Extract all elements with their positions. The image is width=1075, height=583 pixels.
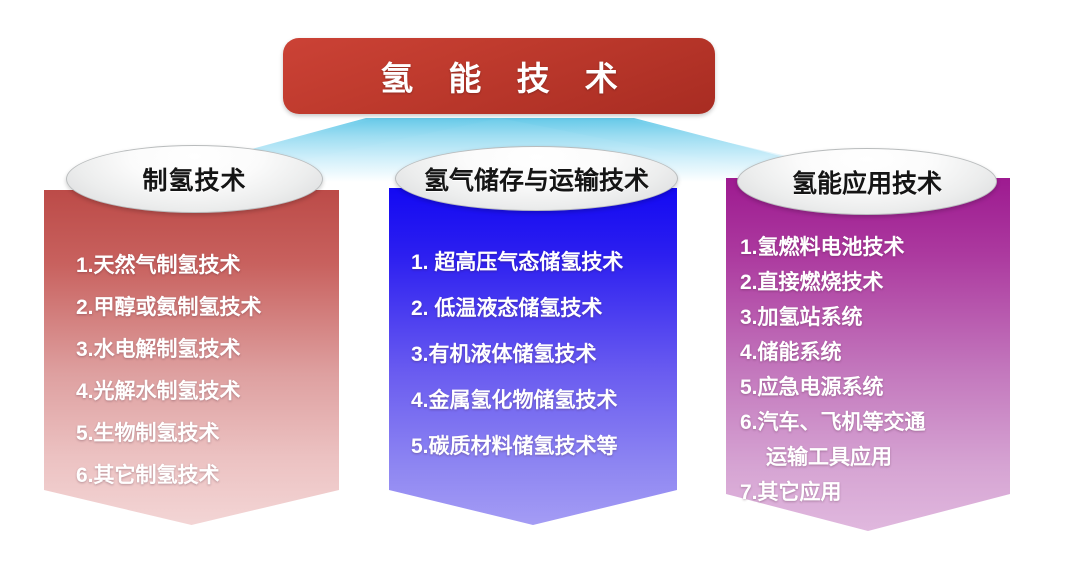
list-item: 5.生物制氢技术 [76, 413, 339, 455]
list-item: 7.其它应用 [740, 475, 1010, 510]
list-item: 5.应急电源系统 [740, 370, 1010, 405]
column-content-red: 1.天然气制氢技术 2.甲醇或氨制氢技术 3.水电解制氢技术 4.光解水制氢技术… [44, 190, 339, 497]
list-item: 4.储能系统 [740, 335, 1010, 370]
list-item: 4.光解水制氢技术 [76, 371, 339, 413]
heading-ellipse-hydrogen-application: 氢能应用技术 [737, 148, 997, 215]
list-item: 6.其它制氢技术 [76, 455, 339, 497]
list-item: 1. 超高压气态储氢技术 [411, 240, 677, 286]
list-item: 1.天然气制氢技术 [76, 245, 339, 287]
heading-label-hydrogen-application: 氢能应用技术 [792, 164, 942, 200]
list-item: 5.碳质材料储氢技术等 [411, 424, 677, 470]
list-item: 2.直接燃烧技术 [740, 265, 1010, 300]
column-content-purple: 1.氢燃料电池技术 2.直接燃烧技术 3.加氢站系统 4.储能系统 5.应急电源… [726, 178, 1010, 510]
category-column-hydrogen-storage-transport: 1. 超高压气态储氢技术 2. 低温液态储氢技术 3.有机液体储氢技术 4.金属… [389, 188, 677, 525]
list-item-continuation: 运输工具应用 [740, 440, 1010, 475]
heading-ellipse-hydrogen-production: 制氢技术 [66, 145, 323, 213]
list-item: 3.加氢站系统 [740, 300, 1010, 335]
list-item: 1.氢燃料电池技术 [740, 230, 1010, 265]
list-item: 3.水电解制氢技术 [76, 329, 339, 371]
diagram-canvas: 氢 能 技 术 1.天然气制氢技术 2.甲醇或氨制氢技术 3.水电解制氢技术 4… [0, 0, 1075, 583]
list-item: 3.有机液体储氢技术 [411, 332, 677, 378]
list-hydrogen-application: 1.氢燃料电池技术 2.直接燃烧技术 3.加氢站系统 4.储能系统 5.应急电源… [726, 178, 1010, 510]
list-item: 2. 低温液态储氢技术 [411, 286, 677, 332]
category-column-hydrogen-application: 1.氢燃料电池技术 2.直接燃烧技术 3.加氢站系统 4.储能系统 5.应急电源… [726, 178, 1010, 531]
category-column-hydrogen-production: 1.天然气制氢技术 2.甲醇或氨制氢技术 3.水电解制氢技术 4.光解水制氢技术… [44, 190, 339, 525]
root-title-box: 氢 能 技 术 [283, 38, 715, 114]
heading-ellipse-hydrogen-storage-transport: 氢气储存与运输技术 [395, 146, 678, 211]
list-item: 2.甲醇或氨制氢技术 [76, 287, 339, 329]
list-hydrogen-production: 1.天然气制氢技术 2.甲醇或氨制氢技术 3.水电解制氢技术 4.光解水制氢技术… [44, 190, 339, 497]
list-item: 4.金属氢化物储氢技术 [411, 378, 677, 424]
page-title: 氢 能 技 术 [367, 52, 631, 100]
heading-label-hydrogen-production: 制氢技术 [142, 161, 246, 197]
heading-label-hydrogen-storage-transport: 氢气储存与运输技术 [424, 161, 649, 197]
column-content-blue: 1. 超高压气态储氢技术 2. 低温液态储氢技术 3.有机液体储氢技术 4.金属… [389, 188, 677, 470]
list-hydrogen-storage-transport: 1. 超高压气态储氢技术 2. 低温液态储氢技术 3.有机液体储氢技术 4.金属… [389, 188, 677, 470]
list-item: 6.汽车、飞机等交通 运输工具应用 [740, 405, 1010, 475]
